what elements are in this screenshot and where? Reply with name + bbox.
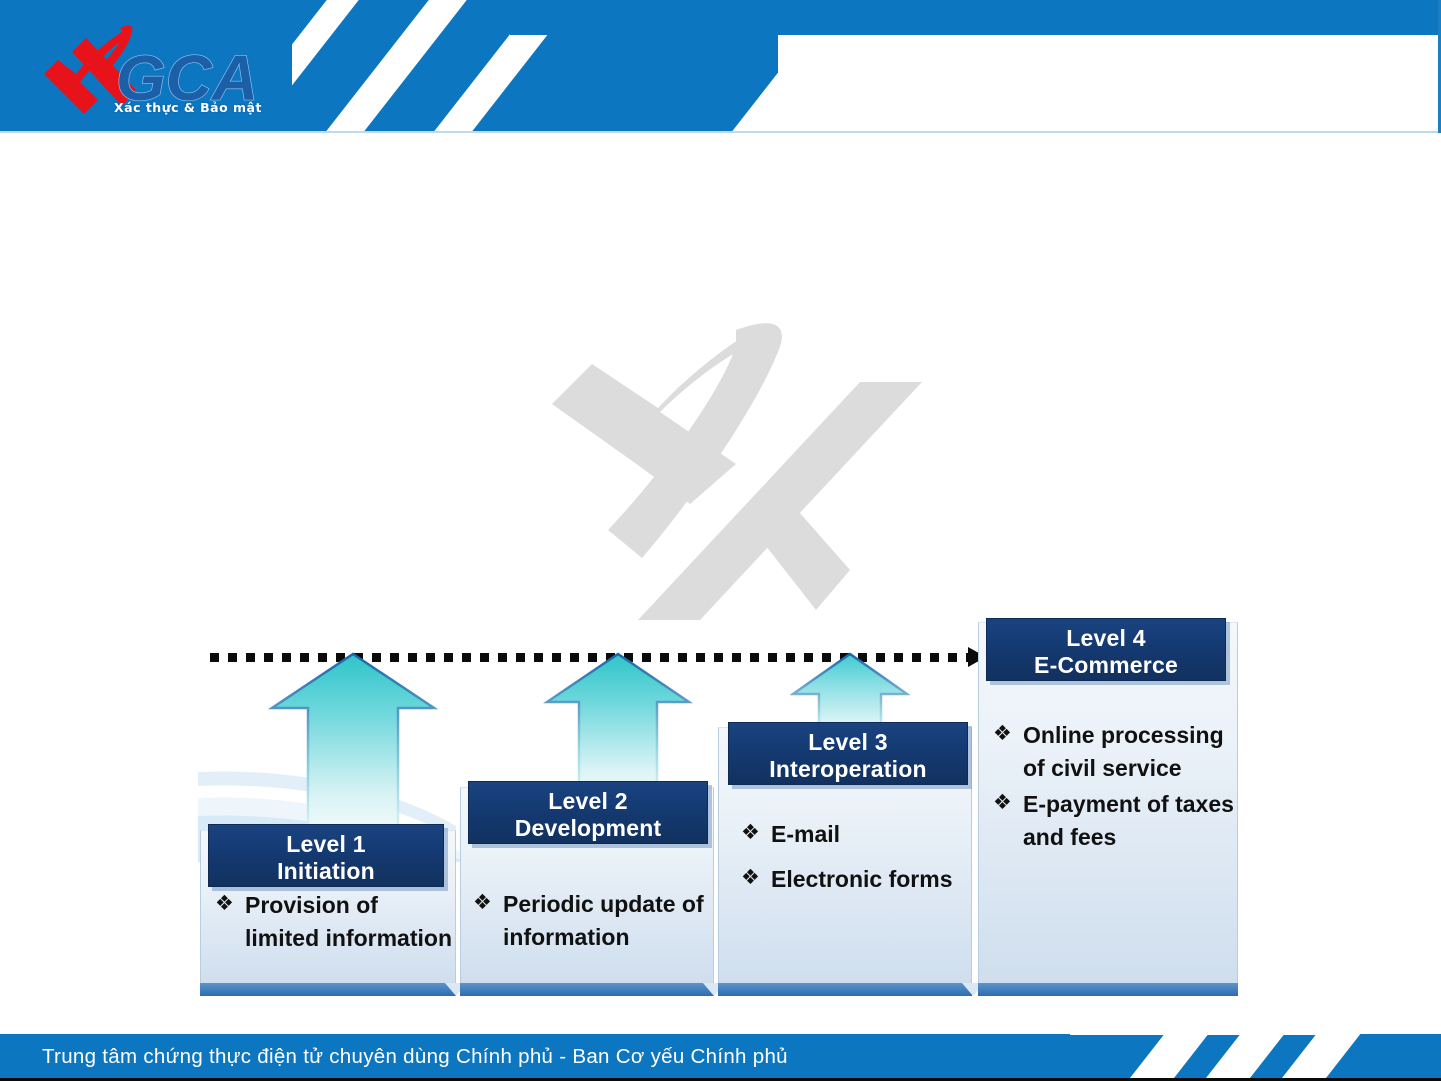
list-item-text: E-payment of taxes and fees bbox=[1023, 791, 1234, 850]
level-1-base bbox=[200, 983, 456, 996]
list-item-text: Periodic update of information bbox=[503, 891, 704, 950]
level-3-bullets: ❖ E-mail ❖ Electronic forms bbox=[741, 818, 977, 899]
watermark-slash-icon bbox=[638, 382, 922, 620]
list-item: ❖ E-payment of taxes and fees bbox=[993, 788, 1239, 853]
list-item: ❖ Provision of limited information bbox=[215, 889, 455, 954]
list-item: ❖ Electronic forms bbox=[741, 863, 977, 896]
level-2-base bbox=[460, 983, 714, 996]
footer-stripe-top bbox=[1070, 1028, 1355, 1035]
slide-footer: Trung tâm chứng thực điện tử chuyên dùng… bbox=[0, 1028, 1441, 1081]
slide-header: GCA Xác thực & Bảo mật bbox=[0, 0, 1441, 133]
list-item-text: Electronic forms bbox=[771, 866, 953, 892]
watermark-x-icon bbox=[552, 336, 758, 504]
bullet-icon: ❖ bbox=[741, 863, 760, 893]
level-4-bullets: ❖ Online processing of civil service ❖ E… bbox=[993, 719, 1239, 858]
footer-text: Trung tâm chứng thực điện tử chuyên dùng… bbox=[42, 1045, 788, 1069]
bullet-icon: ❖ bbox=[993, 788, 1012, 818]
bullet-icon: ❖ bbox=[993, 719, 1012, 749]
watermark-x-leg-icon bbox=[766, 504, 850, 610]
list-item: ❖ Periodic update of information bbox=[473, 888, 715, 953]
level-3-base bbox=[718, 983, 972, 996]
background-watermark bbox=[530, 320, 960, 630]
level-1-bullets: ❖ Provision of limited information bbox=[215, 889, 455, 958]
level-2-header[interactable]: Level 2 Development bbox=[468, 781, 708, 844]
level-4-base bbox=[978, 983, 1238, 996]
level-1-title-line2: Initiation bbox=[209, 858, 443, 885]
list-item-text: E-mail bbox=[771, 821, 840, 847]
bullet-icon: ❖ bbox=[741, 818, 760, 848]
footer-diagonal-stripes bbox=[1070, 1028, 1441, 1081]
level-3-header[interactable]: Level 3 Interoperation bbox=[728, 722, 968, 785]
footer-stripe-1 bbox=[1106, 1028, 1224, 1081]
list-item-text: Online processing of civil service bbox=[1023, 722, 1224, 781]
level-3-title-line2: Interoperation bbox=[729, 756, 967, 783]
gca-logo: GCA Xác thực & Bảo mật bbox=[28, 22, 268, 122]
watermark-swoosh-icon bbox=[608, 323, 782, 558]
level-2-title-line2: Development bbox=[469, 815, 707, 842]
bullet-icon: ❖ bbox=[473, 888, 492, 918]
watermark-svg bbox=[530, 320, 960, 630]
level-4-header[interactable]: Level 4 E-Commerce bbox=[986, 618, 1226, 681]
level-1-header[interactable]: Level 1 Initiation bbox=[208, 824, 444, 887]
level-4-title-line2: E-Commerce bbox=[987, 652, 1225, 679]
header-underline bbox=[0, 131, 1441, 133]
up-arrow-1-svg bbox=[268, 652, 438, 852]
list-item: ❖ E-mail bbox=[741, 818, 977, 851]
maturity-model-diagram: ❖ Provision of limited information Level… bbox=[198, 612, 1240, 995]
bullet-icon: ❖ bbox=[215, 889, 234, 919]
level-2-bullets: ❖ Periodic update of information bbox=[473, 888, 715, 957]
logo-tagline: Xác thực & Bảo mật bbox=[114, 100, 262, 115]
level-1-title-line1: Level 1 bbox=[209, 831, 443, 858]
list-item-text: Provision of limited information bbox=[245, 892, 452, 951]
level-4-title-line1: Level 4 bbox=[987, 625, 1225, 652]
list-item: ❖ Online processing of civil service bbox=[993, 719, 1239, 784]
level-3-title-line1: Level 3 bbox=[729, 729, 967, 756]
header-blue-band bbox=[510, 0, 1441, 35]
level-2-title-line1: Level 2 bbox=[469, 788, 707, 815]
